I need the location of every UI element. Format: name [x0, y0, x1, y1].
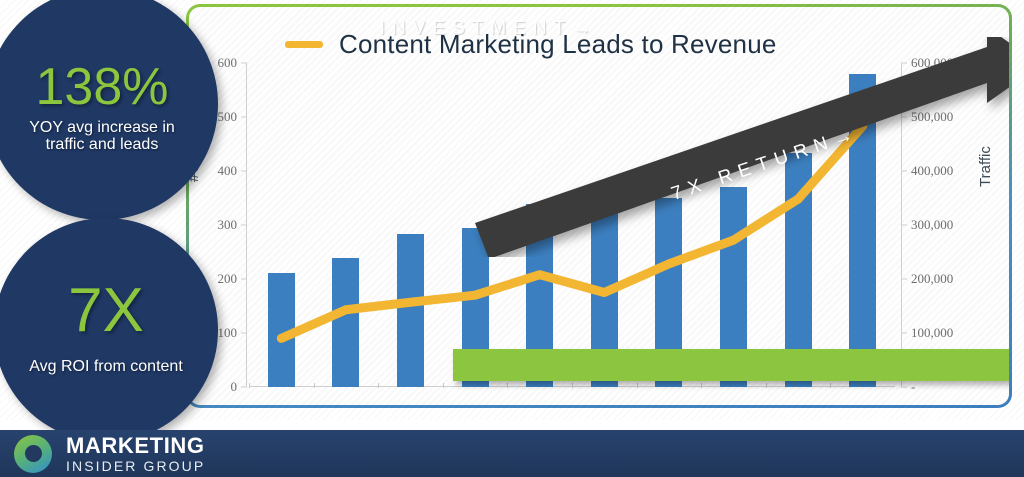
y-tick-mark-left [241, 171, 247, 172]
y-tick-mark-left [241, 333, 247, 334]
x-tick-mark [443, 383, 444, 388]
stat-badge-yoy-caption: YOY avg increase in traffic and leads [17, 119, 187, 154]
y-tick-label-right: 400,000 [911, 163, 953, 179]
y-tick-mark-left [241, 117, 247, 118]
investment-arrow-label: INVESTMENT→ [189, 7, 789, 51]
y-tick-mark-right [901, 63, 907, 64]
y-tick-mark-left [241, 225, 247, 226]
y-tick-mark-right [901, 171, 907, 172]
brand-wordmark: MARKETING INSIDER GROUP [66, 434, 205, 474]
bar [268, 273, 295, 387]
y-tick-label-left: 100 [218, 325, 238, 341]
y-tick-label-left: 0 [231, 379, 238, 395]
traffic-line-path [281, 126, 862, 338]
chart-frame: Content Marketing Leads to Revenue # Art… [186, 4, 1012, 408]
y-axis-right: -100,000200,000300,000400,000500,000600,… [901, 63, 971, 387]
plot-area [249, 63, 895, 387]
brand-name-primary: MARKETING [66, 434, 205, 457]
stat-badge-roi-value: 7X [68, 280, 144, 342]
y-tick-mark-left [241, 279, 247, 280]
y-axis-label-right: Traffic [977, 146, 994, 187]
y-tick-label-right: 600,000 [911, 55, 953, 71]
y-tick-label-right: 100,000 [911, 325, 953, 341]
bar [397, 234, 424, 387]
y-tick-label-left: 200 [218, 271, 238, 287]
y-tick-mark-left [241, 387, 247, 388]
y-tick-label-right: 500,000 [911, 109, 953, 125]
investment-arrow [451, 343, 1009, 391]
brand-name-secondary: INSIDER GROUP [66, 459, 205, 474]
y-tick-mark-right [901, 333, 907, 334]
x-tick-mark [249, 383, 250, 388]
bar [849, 74, 876, 387]
chart-frame-inner: Content Marketing Leads to Revenue # Art… [189, 7, 1009, 405]
y-tick-label-right: 200,000 [911, 271, 953, 287]
y-tick-mark-right [901, 225, 907, 226]
x-tick-mark [378, 383, 379, 388]
bar [332, 258, 359, 387]
infographic-canvas: Content Marketing Leads to Revenue # Art… [0, 0, 1024, 477]
y-tick-label-left: 500 [218, 109, 238, 125]
y-tick-label-left: 400 [218, 163, 238, 179]
footer-bar: MARKETING INSIDER GROUP [0, 430, 1024, 477]
y-tick-label-right: 300,000 [911, 217, 953, 233]
y-tick-mark-left [241, 63, 247, 64]
y-tick-mark-right [901, 279, 907, 280]
y-tick-mark-right [901, 117, 907, 118]
stat-badge-roi-caption: Avg ROI from content [29, 358, 183, 375]
stat-badge-roi: 7X Avg ROI from content [0, 218, 218, 442]
y-tick-label-left: 300 [218, 217, 238, 233]
x-tick-mark [314, 383, 315, 388]
brand-ring-hole [25, 445, 42, 462]
y-tick-label-left: 600 [218, 55, 238, 71]
stat-badge-yoy-value: 138% [36, 61, 169, 113]
brand-ring-icon [14, 435, 52, 473]
